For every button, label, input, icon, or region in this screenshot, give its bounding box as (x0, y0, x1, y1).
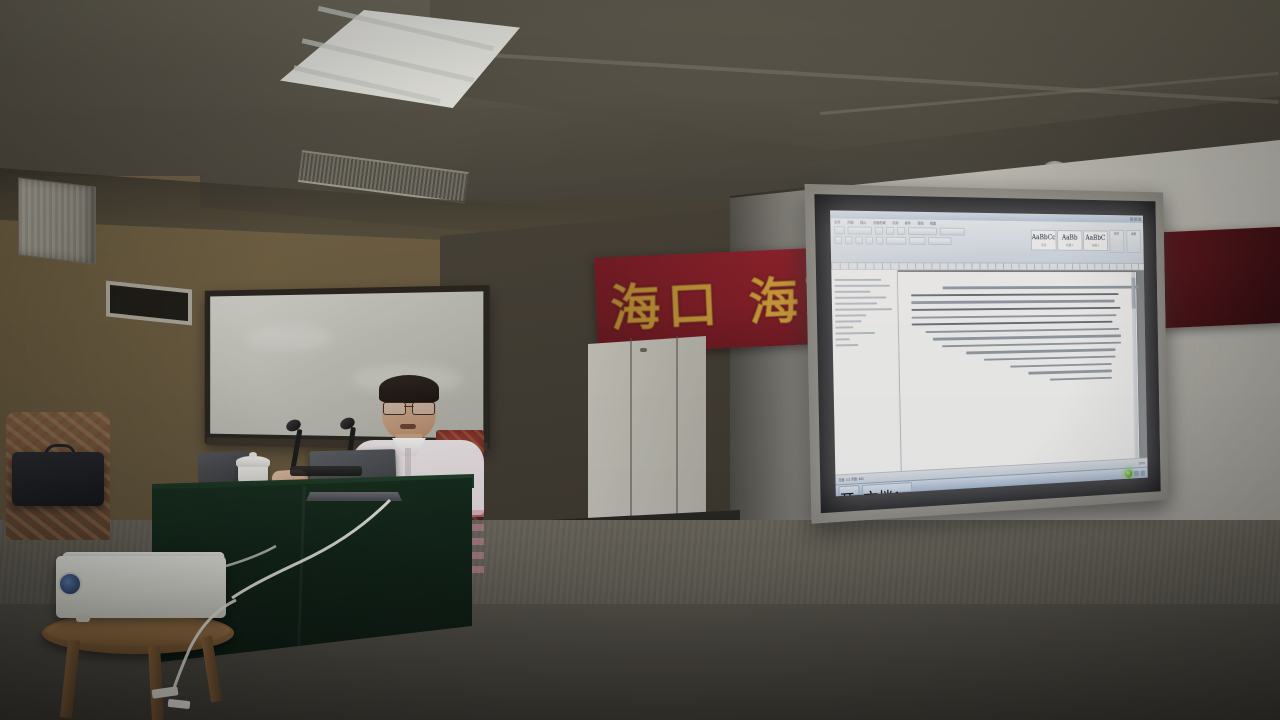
document-text-line (925, 328, 1119, 333)
nav-item[interactable] (835, 314, 866, 316)
document-text-line (966, 349, 1115, 355)
document-text-line (943, 286, 1139, 289)
underline-button[interactable] (897, 227, 905, 235)
document-text-line (942, 342, 1122, 348)
maximize-icon[interactable] (1134, 217, 1137, 221)
shirt-placket (405, 448, 411, 478)
shading-button[interactable] (928, 237, 952, 245)
nav-item[interactable] (835, 338, 850, 340)
ribbon-tab[interactable]: 引用 (892, 220, 898, 225)
start-button[interactable]: 开始 (838, 485, 859, 496)
nav-item[interactable] (834, 285, 889, 287)
numbering-button[interactable] (845, 236, 853, 244)
ribbon-tab[interactable]: 文件 (834, 219, 841, 224)
style-option[interactable]: AaBbCc 正文 (1031, 230, 1057, 251)
network-icon[interactable] (1134, 470, 1139, 476)
glasses-right-lens (412, 402, 435, 415)
ribbon-tab[interactable]: 视图 (930, 221, 936, 226)
document-text-line (1049, 377, 1112, 381)
nav-item[interactable] (836, 344, 859, 346)
projection-screen: 文件 开始 插入 页面布局 引用 邮件 审阅 视图 (805, 184, 1169, 524)
black-bag (12, 452, 104, 506)
style-preview-text: AaBb (1062, 234, 1078, 241)
document-text-line (1011, 363, 1112, 368)
align-right-button[interactable] (876, 237, 884, 245)
speaker-grille (19, 178, 95, 263)
highlight-group[interactable] (940, 228, 965, 236)
style-label: 标题 1 (1066, 243, 1073, 247)
system-tray[interactable] (1125, 469, 1145, 478)
ribbon-tab[interactable]: 开始 (847, 220, 853, 225)
document-area[interactable] (831, 270, 1147, 475)
door-knob[interactable] (640, 348, 647, 352)
document-text-line (984, 356, 1115, 361)
font-size-box[interactable] (847, 226, 872, 234)
navigation-pane[interactable] (831, 270, 901, 475)
document-text-line (912, 321, 1113, 326)
document-text-line (911, 300, 1114, 304)
teacup-knob (249, 452, 257, 458)
wall-speaker (18, 177, 96, 265)
font-name-box[interactable] (834, 226, 845, 234)
style-option[interactable]: AaBb 标题 1 (1057, 230, 1082, 251)
status-bar-left: 页面: 1/1 字数: 480 (838, 476, 864, 482)
glasses-left-lens (383, 402, 406, 415)
style-preview-text: AaBbCc (1032, 234, 1056, 241)
nav-item[interactable] (835, 308, 892, 311)
minimize-icon[interactable] (1130, 217, 1133, 221)
style-preview-text: AaBbC (1085, 235, 1105, 242)
document-text-line (932, 335, 1121, 341)
nav-item[interactable] (834, 279, 881, 281)
cabinet-doors[interactable] (588, 336, 706, 536)
whiteboard-smudge (247, 324, 332, 350)
nav-item[interactable] (835, 296, 887, 298)
volume-icon[interactable] (1140, 470, 1145, 476)
projector-foot (76, 614, 90, 622)
close-icon[interactable] (1138, 217, 1141, 221)
document-text-line (1028, 370, 1112, 375)
scrollbar-thumb[interactable] (1131, 278, 1136, 309)
bullets-button[interactable] (834, 236, 842, 244)
zoom-level[interactable]: 100% (1138, 461, 1145, 465)
ribbon-tab[interactable]: 邮件 (905, 220, 911, 225)
nav-item[interactable] (835, 320, 862, 322)
document-text-line (911, 307, 1120, 311)
nav-item[interactable] (835, 291, 871, 293)
borders-button[interactable] (909, 237, 926, 245)
nav-item[interactable] (835, 332, 875, 335)
styles-group-button[interactable]: 样式 (1109, 230, 1124, 253)
ribbon-right-groups[interactable]: 样式 编辑 (1109, 230, 1141, 253)
align-left-button[interactable] (855, 236, 863, 244)
ribbon-tab[interactable]: 审阅 (917, 221, 923, 226)
microphone-base (290, 466, 362, 476)
screen-surface: 文件 开始 插入 页面布局 引用 邮件 审阅 视图 (830, 210, 1148, 496)
document-text-line (912, 314, 1117, 319)
styles-gallery[interactable]: AaBbCc 正文 AaBb 标题 1 AaBbC 标题 2 (1031, 230, 1108, 251)
editing-group-button[interactable]: 编辑 (1126, 230, 1141, 253)
presenter-mouth (400, 424, 416, 429)
ribbon-tab[interactable]: 插入 (860, 220, 866, 225)
nav-item[interactable] (835, 302, 877, 304)
document-page[interactable] (898, 272, 1140, 471)
conference-room-photo: 海口 海环院环 ... 境 文件 开始 插入 (0, 0, 1280, 720)
style-label: 标题 2 (1092, 243, 1099, 247)
bold-button[interactable] (875, 227, 884, 235)
presenter-hair (379, 375, 439, 403)
style-option[interactable]: AaBbC 标题 2 (1083, 230, 1108, 251)
door-seam (630, 338, 632, 534)
document-text-line (911, 293, 1118, 297)
door-seam (676, 336, 678, 532)
line-spacing-button[interactable] (886, 237, 906, 245)
word-application-window[interactable]: 文件 开始 插入 页面布局 引用 邮件 审阅 视图 (830, 210, 1148, 496)
font-color-group[interactable] (908, 227, 937, 235)
ribbon-tab[interactable]: 页面布局 (873, 220, 886, 225)
style-label: 正文 (1041, 243, 1046, 247)
glasses-icon (383, 402, 435, 413)
document-scrollbar[interactable] (1131, 272, 1138, 458)
security-shield-icon[interactable] (1125, 469, 1132, 478)
nav-item[interactable] (835, 326, 853, 328)
italic-button[interactable] (886, 227, 894, 235)
laptop-keyboard-base (306, 492, 402, 501)
ribbon[interactable]: 文件 开始 插入 页面布局 引用 邮件 审阅 视图 (830, 218, 1144, 264)
align-center-button[interactable] (866, 237, 874, 245)
projector-lens (58, 572, 82, 596)
